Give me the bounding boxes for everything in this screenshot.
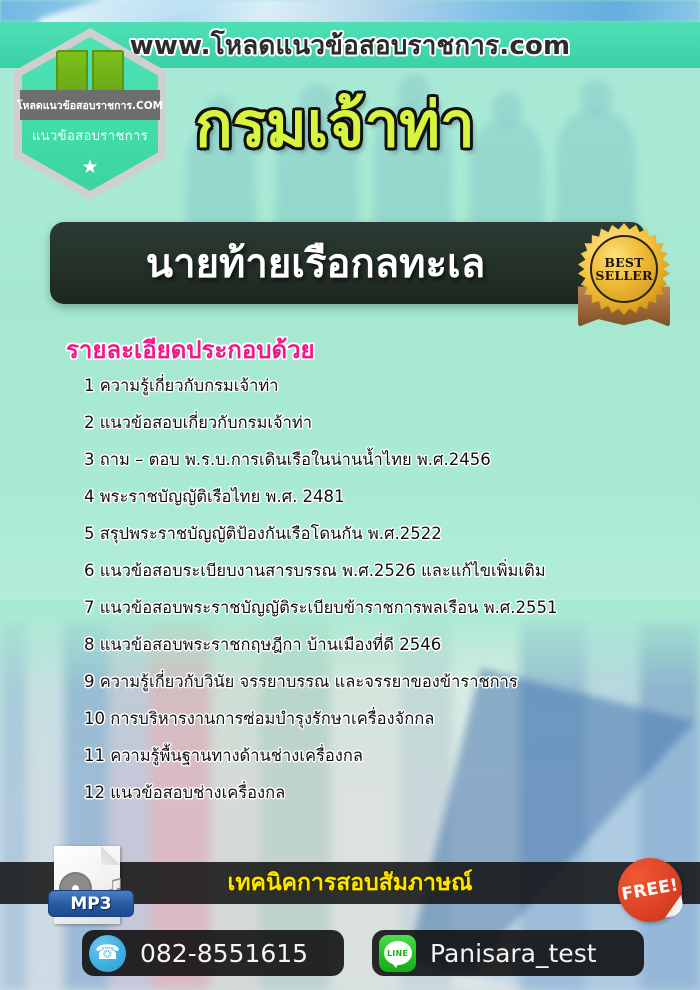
- list-item: 11 ความรู้พื้นฐานทางด้านช่างเครื่องกล: [84, 742, 684, 779]
- list-item: 6 แนวข้อสอบระเบียบงานสารบรรณ พ.ศ.2526 แล…: [84, 557, 684, 594]
- list-item: 8 แนวข้อสอบพระราชกฤษฎีกา บ้านเมืองที่ดี …: [84, 631, 684, 668]
- medal-line-1: BEST: [604, 256, 643, 270]
- star-icon: ★: [81, 158, 98, 177]
- list-item: 5 สรุปพระราชบัญญัติป้องกันเรือโดนกัน พ.ศ…: [84, 520, 684, 557]
- details-heading: รายละเอียดประกอบด้วย: [66, 330, 315, 369]
- list-item: 1 ความรู้เกี่ยวกับกรมเจ้าท่า: [84, 372, 684, 409]
- mp3-label-tag: MP3: [48, 890, 134, 917]
- topic-list: 1 ความรู้เกี่ยวกับกรมเจ้าท่า 2 แนวข้อสอบ…: [84, 372, 684, 816]
- background-sky-strip: [0, 0, 700, 22]
- phone-contact-pill[interactable]: ☎ 082-8551615: [82, 930, 344, 976]
- subject-title: นายท้ายเรือกลทะเล: [146, 231, 549, 295]
- interview-technique-text: เทคนิคการสอบสัมภาษณ์: [228, 865, 473, 901]
- mp3-label-text: MP3: [70, 894, 111, 914]
- phone-number-text: 082-8551615: [140, 939, 308, 968]
- best-seller-badge: BEST SELLER: [570, 221, 678, 333]
- medal-line-2: SELLER: [595, 269, 652, 283]
- page-title: กรมเจ้าท่า: [0, 94, 700, 156]
- mp3-file-icon: ♫ MP3: [48, 846, 134, 924]
- subject-bar: นายท้ายเรือกลทะเล: [50, 222, 645, 304]
- list-item: 2 แนวข้อสอบเกี่ยวกับกรมเจ้าท่า: [84, 409, 684, 446]
- list-item: 10 การบริหารงานการซ่อมบำรุงรักษาเครื่องจ…: [84, 705, 684, 742]
- phone-icon: ☎: [89, 935, 126, 972]
- list-item: 9 ความรู้เกี่ยวกับวินัย จรรยาบรรณ และจรร…: [84, 668, 684, 705]
- list-item: 4 พระราชบัญญัติเรือไทย พ.ศ. 2481: [84, 483, 684, 520]
- medal-disc: BEST SELLER: [590, 235, 658, 303]
- line-icon: LINE: [379, 935, 416, 972]
- list-item: 3 ถาม – ตอบ พ.ร.บ.การเดินเรือในน่านน้ำไท…: [84, 446, 684, 483]
- site-url-text: www.โหลดแนวข้อสอบราชการ.com: [130, 25, 571, 66]
- list-item: 7 แนวข้อสอบพระราชบัญญัติระเบียบข้าราชการ…: [84, 594, 684, 631]
- line-speech-bubble: LINE: [384, 941, 412, 965]
- line-id-text: Panisara_test: [430, 939, 597, 968]
- page-fold-corner-icon: [101, 846, 120, 865]
- line-contact-pill[interactable]: LINE Panisara_test: [372, 930, 644, 976]
- line-badge-text: LINE: [387, 949, 408, 958]
- list-item: 12 แนวข้อสอบช่างเครื่องกล: [84, 779, 684, 816]
- free-label-text: FREE!: [620, 875, 680, 905]
- poster-root: www.โหลดแนวข้อสอบราชการ.com โหลดแนวข้อสอ…: [0, 0, 700, 990]
